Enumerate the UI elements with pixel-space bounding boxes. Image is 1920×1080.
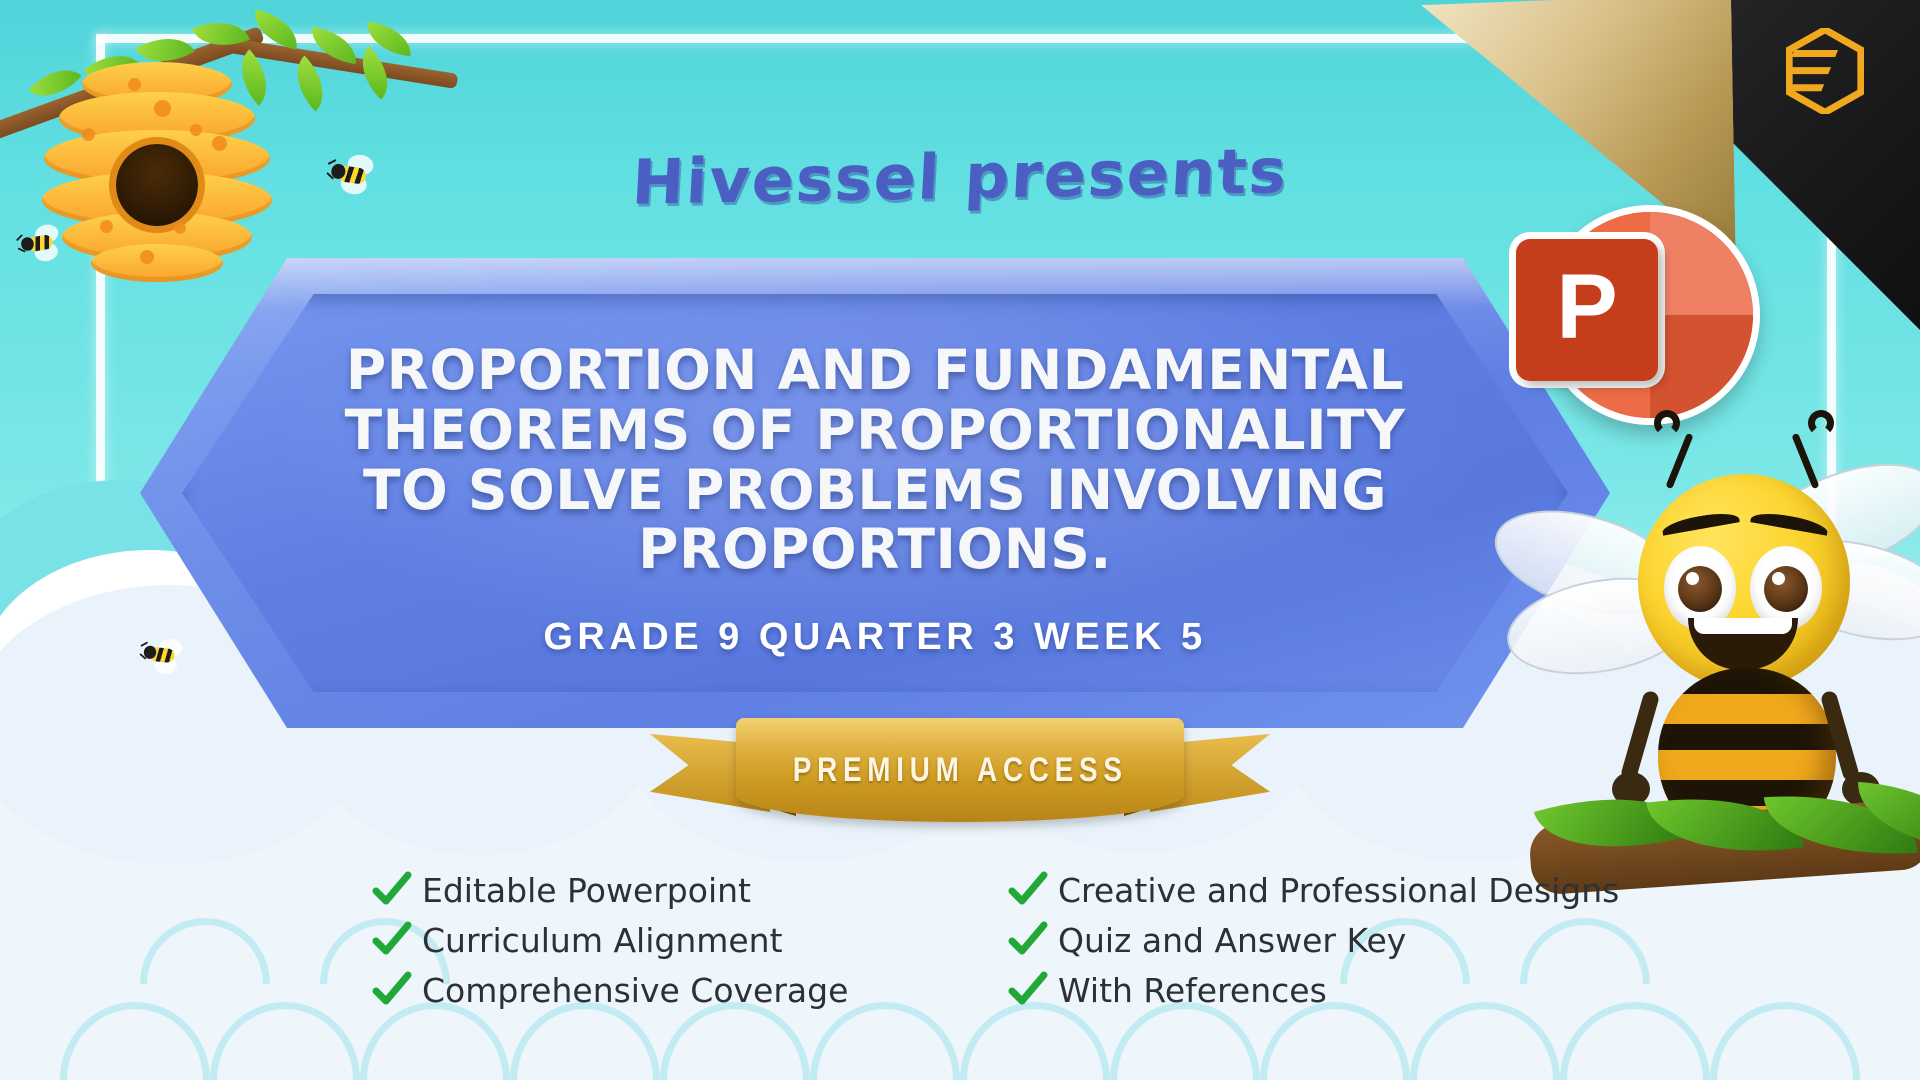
feature-label: Quiz and Answer Key [1058,921,1406,960]
powerpoint-icon: P [1540,205,1760,425]
ribbon-label: PREMIUM ACCESS [793,751,1128,790]
feature-label: Comprehensive Coverage [422,971,848,1010]
main-banner: PROPORTION AND FUNDAMENTAL THEOREMS OF P… [140,258,1610,728]
feature-item: Curriculum Alignment [372,920,932,960]
feature-label: Editable Powerpoint [422,871,751,910]
feature-label: With References [1058,971,1327,1010]
check-icon [1008,970,1048,1010]
check-icon [1008,920,1048,960]
feature-label: Creative and Professional Designs [1058,871,1619,910]
bee-mascot [1570,440,1920,860]
premium-access-ribbon: PREMIUM ACCESS [650,718,1270,843]
check-icon [372,920,412,960]
hexagon-logo [1786,28,1864,114]
grade-subtitle: GRADE 9 QUARTER 3 WEEK 5 [543,616,1206,659]
feature-item: With References [1008,970,1568,1010]
page-title: PROPORTION AND FUNDAMENTAL THEOREMS OF P… [310,341,1440,581]
check-icon [372,970,412,1010]
feature-list: Editable Powerpoint Creative and Profess… [372,870,1612,1010]
feature-label: Curriculum Alignment [422,921,783,960]
feature-item: Editable Powerpoint [372,870,932,910]
check-icon [1008,870,1048,910]
feature-item: Comprehensive Coverage [372,970,932,1010]
powerpoint-letter: P [1556,261,1617,353]
feature-item: Quiz and Answer Key [1008,920,1568,960]
feature-item: Creative and Professional Designs [1008,870,1568,910]
flying-bee-icon [18,226,63,260]
poster-canvas: Hivessel presents PROPORTION AND FUNDAME… [0,0,1920,1080]
check-icon [372,870,412,910]
